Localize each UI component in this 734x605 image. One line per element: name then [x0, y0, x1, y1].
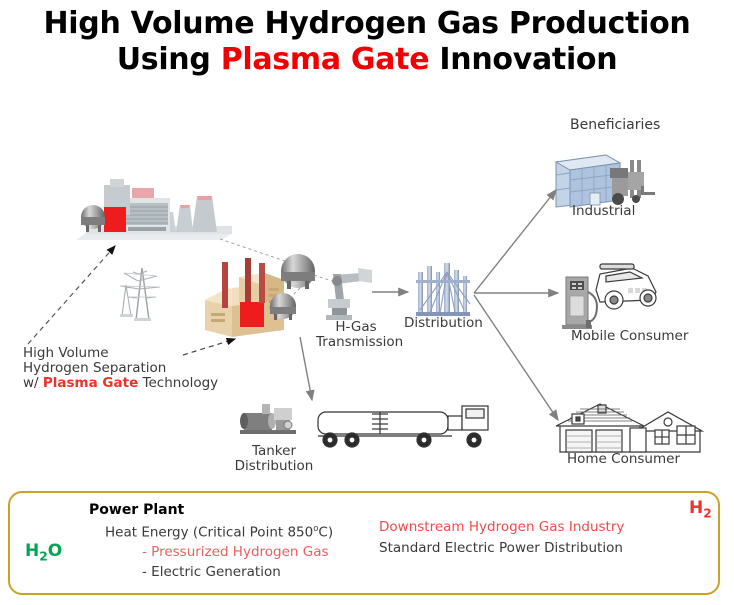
tanker-compressor-icon	[240, 404, 296, 434]
title-line-1: High Volume Hydrogen Gas Production	[0, 6, 734, 42]
power-plant-panel: H2O Power Plant Heat Energy (Critical Po…	[8, 491, 720, 595]
arrow-to-home	[474, 295, 558, 420]
power-plant-icon	[76, 179, 232, 240]
source-description: High Volume Hydrogen Separation w/ Plasm…	[23, 346, 218, 391]
power-plant-title: Power Plant	[89, 502, 184, 518]
industrial-label: Industrial	[572, 204, 635, 219]
arrow-to-plasma-gate	[28, 246, 115, 344]
home-consumer-label: Home Consumer	[567, 452, 680, 467]
distribution-icon	[416, 263, 470, 316]
title-line-2: Using Plasma Gate Innovation	[0, 42, 734, 78]
source-prefix: w/	[23, 375, 43, 391]
h-gas-transmission-icon	[326, 268, 372, 320]
tanker-truck-icon	[318, 406, 488, 447]
tanker-line-2: Distribution	[228, 459, 320, 474]
gas-storage-sphere-upper	[281, 254, 315, 289]
heat-unit: C	[318, 525, 327, 541]
h-gas-transmission-label: H-Gas Transmission	[316, 320, 396, 350]
fuel-pump-icon	[562, 277, 597, 329]
plasma-gate-panel	[240, 302, 264, 327]
source-highlight: Plasma Gate	[43, 375, 138, 391]
tanker-distribution-label: Tanker Distribution	[228, 444, 320, 474]
h2o-input-formula: H2O	[25, 541, 62, 563]
output-standard-electric: Standard Electric Power Distribution	[379, 540, 623, 556]
heat-value: 850	[287, 525, 313, 541]
pickup-truck-icon	[596, 264, 656, 309]
link-plant-sphere	[220, 239, 288, 262]
title-suffix: Innovation	[429, 42, 617, 77]
bullet-pressurized-hydrogen: - Pressurized Hydrogen Gas	[142, 544, 329, 560]
transmission-towers-icon	[120, 268, 160, 321]
bullet-electric-generation: - Electric Generation	[142, 564, 281, 580]
output-downstream-industry: Downstream Hydrogen Gas Industry	[379, 519, 624, 535]
separation-factory-icon	[205, 258, 284, 337]
gas-storage-sphere-lower	[270, 293, 296, 320]
page-title: High Volume Hydrogen Gas Production Usin…	[0, 6, 734, 78]
link-sphere-arm	[314, 275, 332, 281]
heat-energy-line: Heat Energy (Critical Point 850oC)	[105, 523, 333, 541]
tanker-line-1: Tanker	[228, 444, 320, 459]
h2-output-formula: H2	[689, 498, 712, 520]
link-sphere-sphere	[290, 288, 300, 298]
distribution-label: Distribution	[404, 316, 483, 331]
source-line-1: High Volume	[23, 346, 218, 361]
h-gas-line-2: Transmission	[316, 335, 396, 350]
house-icon	[556, 404, 702, 452]
h-gas-line-1: H-Gas	[316, 320, 396, 335]
beneficiaries-header: Beneficiaries	[570, 118, 660, 133]
title-highlight: Plasma Gate	[221, 42, 430, 77]
mobile-consumer-label: Mobile Consumer	[571, 329, 688, 344]
industrial-icon	[556, 155, 620, 207]
title-prefix: Using	[117, 42, 221, 77]
arrow-to-tanker	[300, 337, 312, 400]
plasma-gate-unit	[104, 207, 126, 232]
source-suffix: Technology	[138, 375, 218, 391]
forklift-icon	[610, 160, 655, 205]
arrow-to-industrial	[474, 190, 556, 293]
source-line-2: Hydrogen Separation	[23, 361, 218, 376]
source-line-3: w/ Plasma Gate Technology	[23, 376, 218, 391]
